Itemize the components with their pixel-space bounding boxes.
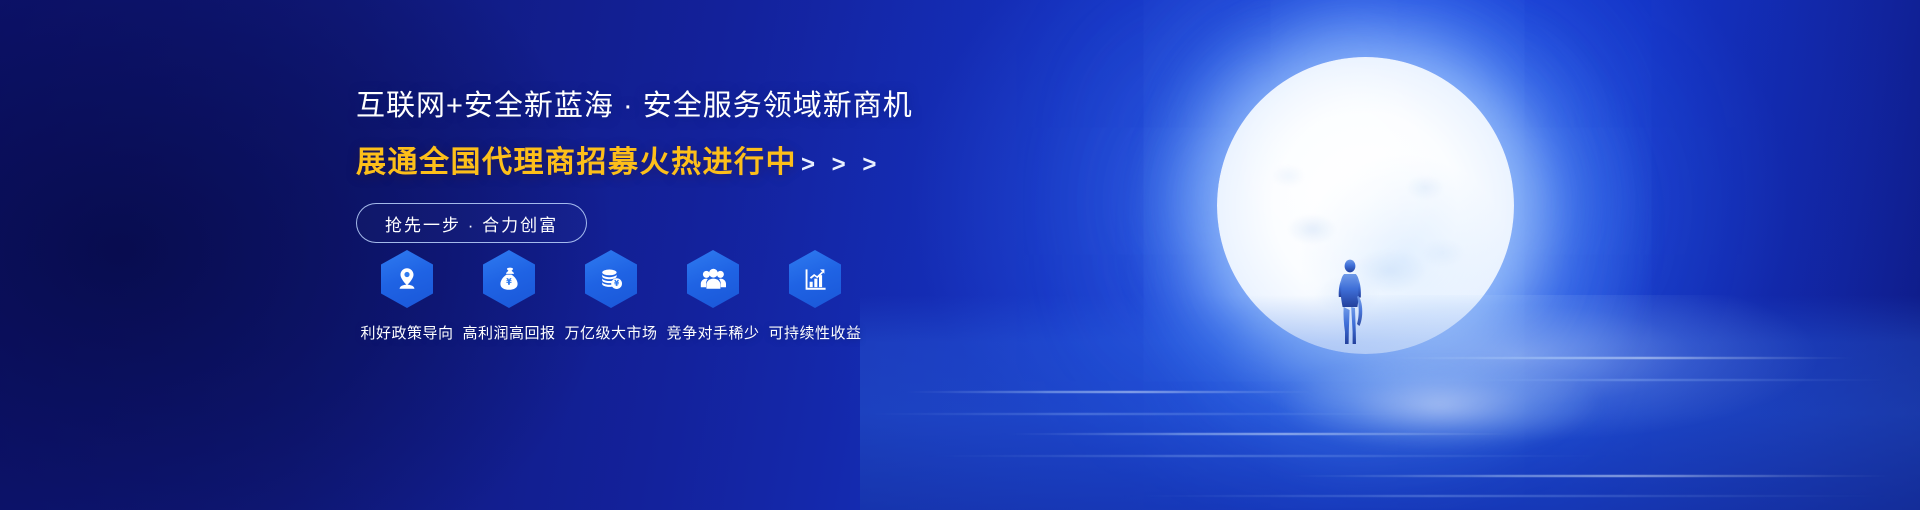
feature-item[interactable]: 万亿级大市场 (560, 250, 662, 343)
feature-label: 可持续性收益 (768, 322, 861, 343)
feature-item[interactable]: 可持续性收益 (764, 250, 866, 343)
text-content-block: 互联网+安全新蓝海 · 安全服务领域新商机 展通全国代理商招募火热进行中 > >… (356, 88, 1076, 243)
banner-headline: 互联网+安全新蓝海 · 安全服务领域新商机 (356, 88, 1076, 124)
location-pin-icon (381, 250, 433, 308)
wave-line (1120, 495, 1900, 497)
feature-item[interactable]: 利好政策导向 (356, 250, 458, 343)
people-group-icon (687, 250, 739, 308)
feature-list: 利好政策导向 高利润高回报 (356, 250, 866, 343)
promo-banner: 互联网+安全新蓝海 · 安全服务领域新商机 展通全国代理商招募火热进行中 > >… (0, 0, 1920, 510)
feature-item[interactable]: 高利润高回报 (458, 250, 560, 343)
cta-pill-button[interactable]: 抢先一步 · 合力创富 (356, 203, 587, 243)
chevron-right-icon: > > > (801, 151, 881, 179)
feature-item[interactable]: 竞争对手稀少 (662, 250, 764, 343)
feature-label: 万亿级大市场 (564, 322, 657, 343)
feature-label: 利好政策导向 (360, 322, 453, 343)
feature-label: 竞争对手稀少 (666, 322, 759, 343)
banner-subline: 展通全国代理商招募火热进行中 (356, 137, 797, 181)
money-bag-icon (483, 250, 535, 308)
walking-person-silhouette (1330, 258, 1370, 346)
moon-reflection-glow (1230, 340, 1650, 470)
coin-stack-icon (585, 250, 637, 308)
bar-chart-up-icon (789, 250, 841, 308)
banner-subline-row: 展通全国代理商招募火热进行中 > > > (356, 137, 1076, 181)
wave-line (1280, 475, 1900, 477)
feature-label: 高利润高回报 (462, 322, 555, 343)
